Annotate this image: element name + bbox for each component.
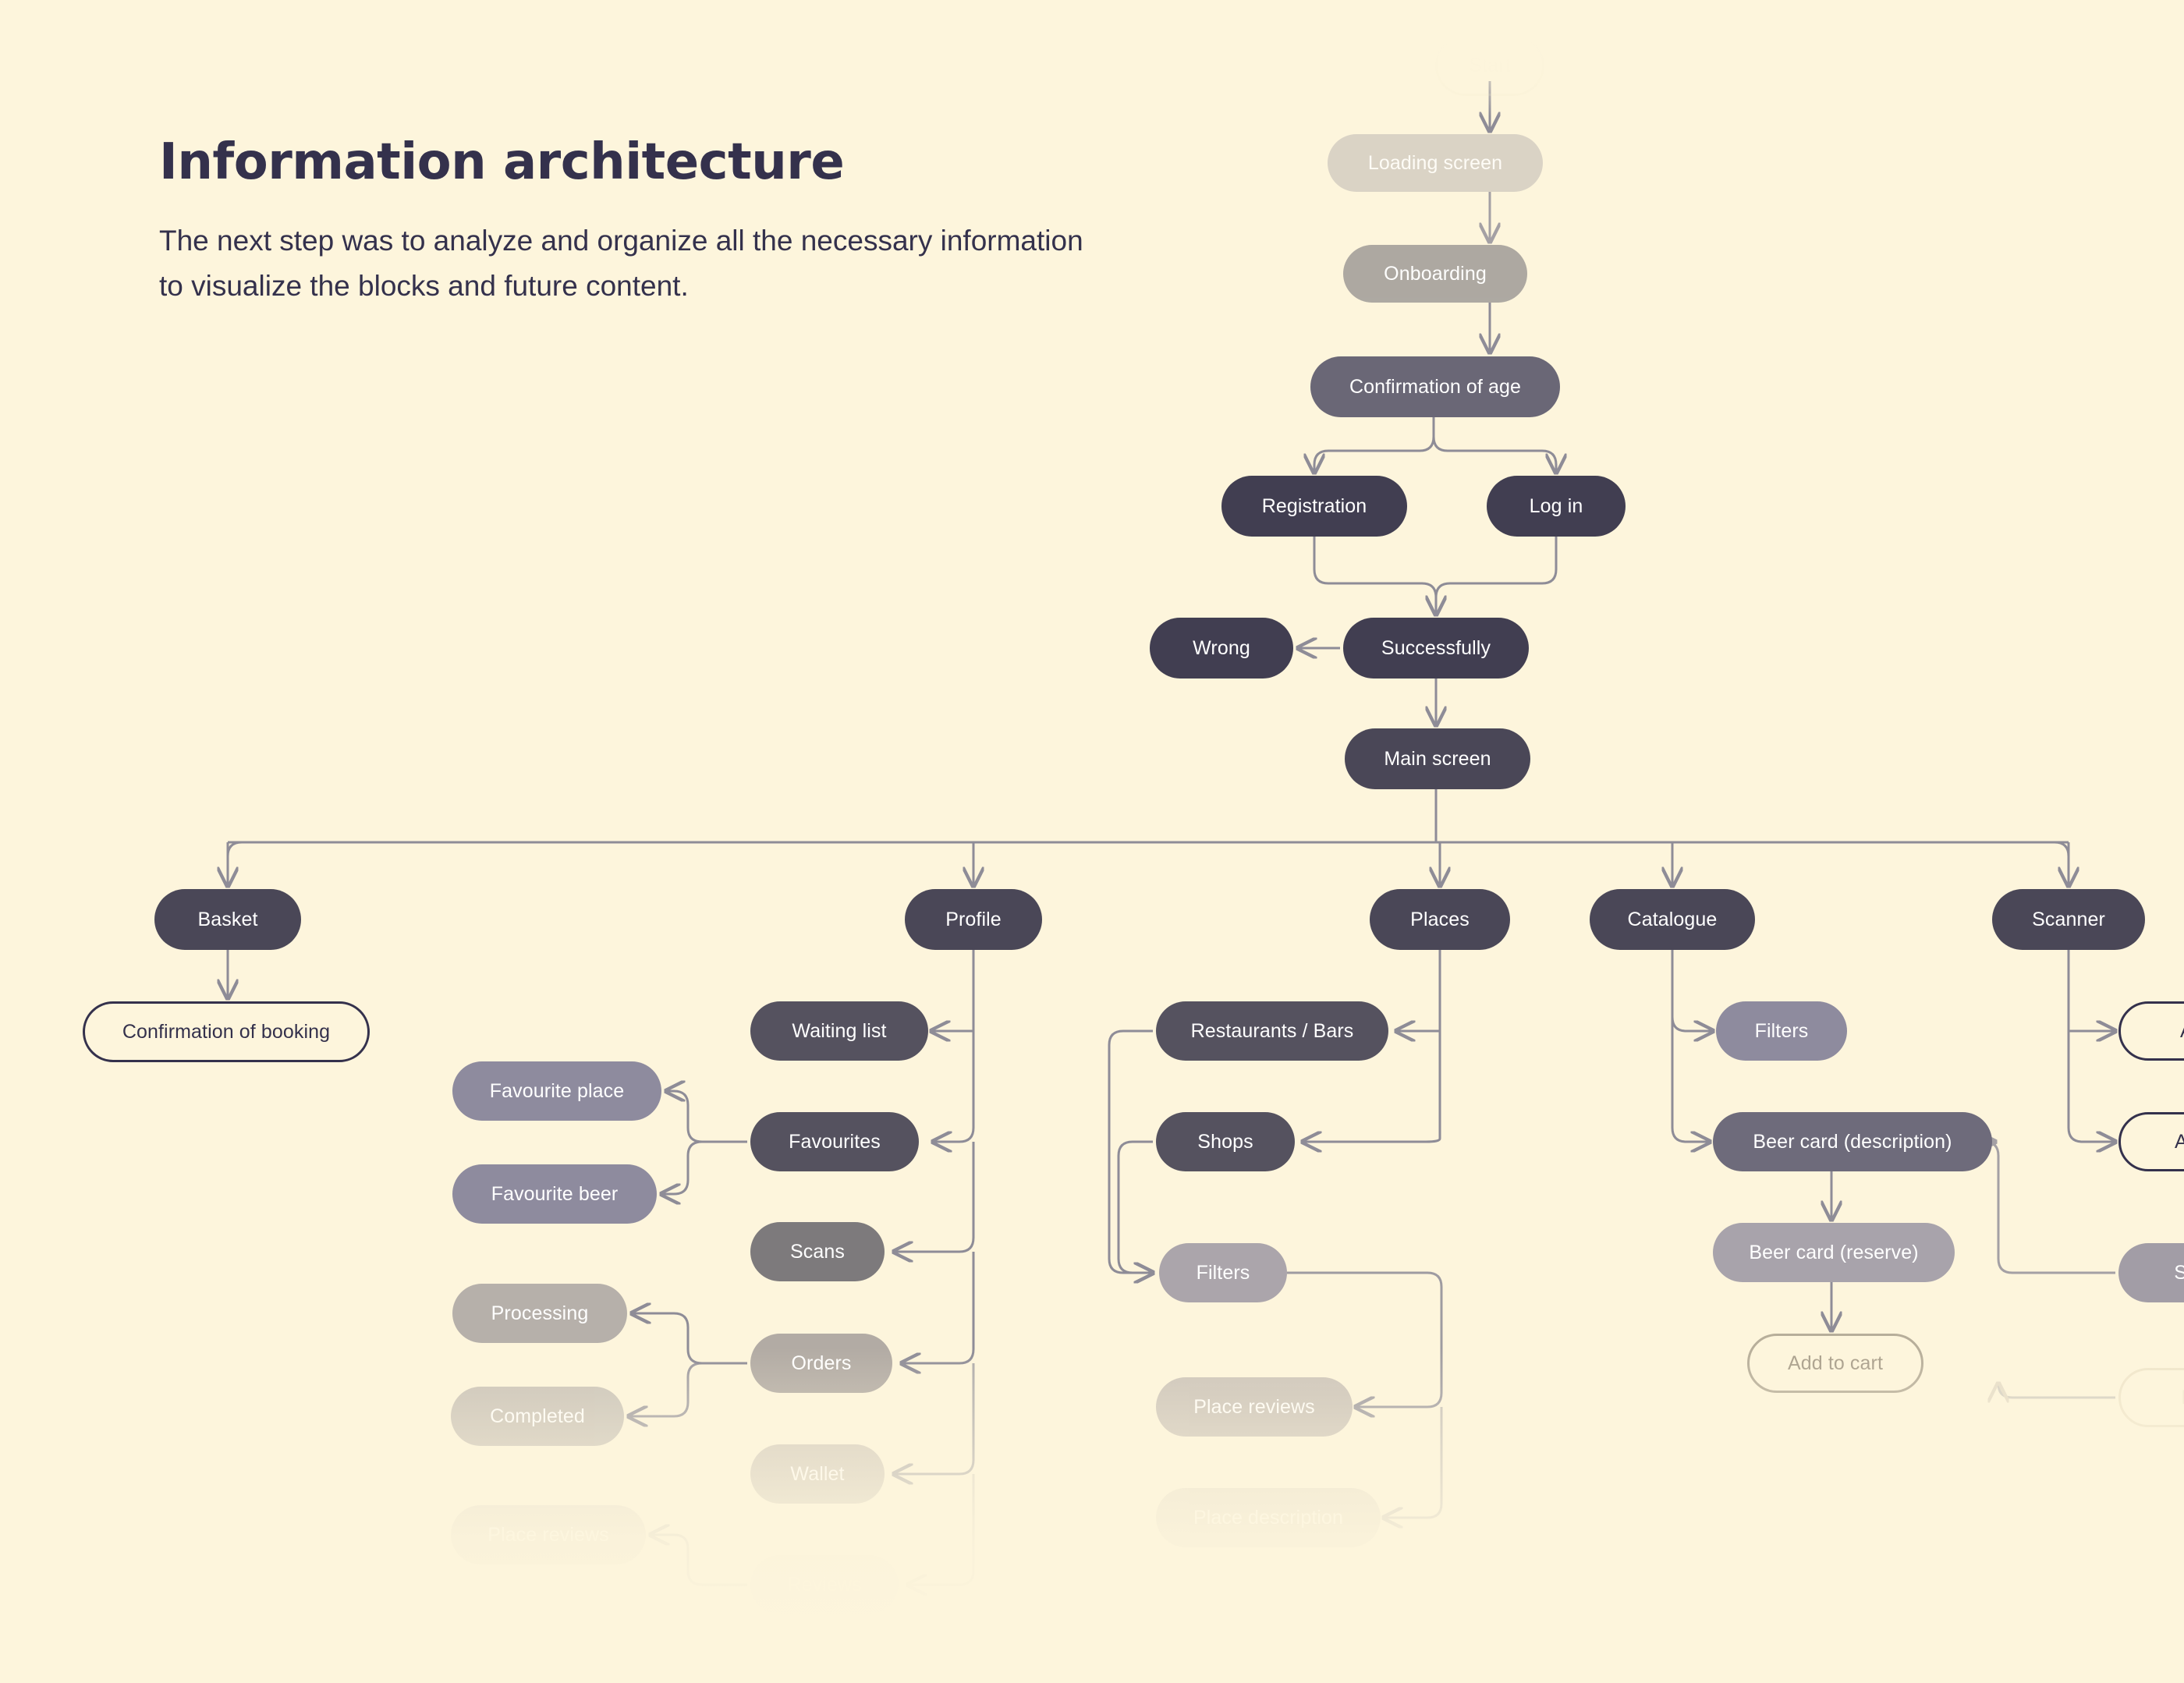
flow-node-label: Log in bbox=[1530, 497, 1583, 516]
flow-node-scanner[interactable]: Scanner bbox=[1992, 889, 2145, 950]
flow-node-label: Successfully bbox=[1381, 639, 1491, 658]
flow-node-filters-catalogue[interactable]: Filters bbox=[1716, 1001, 1847, 1061]
flow-node-label: Onboarding bbox=[1384, 264, 1487, 284]
flow-node-label: Place description bbox=[1193, 1508, 1343, 1528]
flow-node-label: Main screen bbox=[1384, 749, 1491, 769]
flow-node-successfully[interactable]: Successfully bbox=[1343, 618, 1529, 679]
flow-node-label: Filters bbox=[1755, 1022, 1809, 1041]
flow-node-label: Acce bbox=[2175, 1132, 2184, 1152]
page-subtitle: The next step was to analyze and organiz… bbox=[159, 218, 1095, 308]
intro-block: Information architecture The next step w… bbox=[159, 136, 1134, 308]
flow-node-place-reviews-places[interactable]: Place reviews bbox=[1156, 1377, 1353, 1437]
flow-node-restaurants-bars[interactable]: Restaurants / Bars bbox=[1156, 1001, 1388, 1061]
flow-node-label: Favourites bbox=[789, 1132, 881, 1152]
flow-node-wallet[interactable]: Wallet bbox=[750, 1444, 885, 1504]
flow-node-label: Waiting list bbox=[792, 1022, 886, 1041]
flow-node-profile[interactable]: Profile bbox=[905, 889, 1042, 950]
flow-node-label: Reviews bbox=[787, 1575, 861, 1595]
flow-node-scanner-scan[interactable]: Scan bbox=[2118, 1243, 2184, 1302]
flow-node-label: Add to cart bbox=[1788, 1354, 1883, 1373]
flow-node-label: Completed bbox=[490, 1407, 585, 1426]
flow-node-places[interactable]: Places bbox=[1370, 889, 1510, 950]
flow-node-add-to-cart[interactable]: Add to cart bbox=[1747, 1334, 1923, 1393]
flow-node-label: Favourite place bbox=[490, 1082, 624, 1101]
flow-node-label: Scan bbox=[2174, 1263, 2184, 1283]
flow-node-favourite-place[interactable]: Favourite place bbox=[452, 1061, 661, 1121]
flow-node-beer-card-description[interactable]: Beer card (description) bbox=[1713, 1112, 1992, 1171]
flow-node-favourites[interactable]: Favourites bbox=[750, 1112, 919, 1171]
flow-node-confirmation-of-age[interactable]: Confirmation of age bbox=[1310, 356, 1560, 417]
flow-node-processing[interactable]: Processing bbox=[452, 1284, 627, 1343]
flow-node-label: Favourite beer bbox=[491, 1185, 619, 1204]
flow-node-label: Scanner bbox=[2032, 910, 2105, 930]
flow-node-label: Catalogue bbox=[1628, 910, 1718, 930]
flow-node-label: Not bbox=[2181, 1388, 2184, 1408]
flow-node-registration[interactable]: Registration bbox=[1221, 476, 1407, 537]
flow-node-basket[interactable]: Basket bbox=[154, 889, 301, 950]
flow-node-favourite-beer[interactable]: Favourite beer bbox=[452, 1164, 657, 1224]
flow-node-start[interactable]: Start bbox=[1435, 35, 1544, 96]
flow-node-scanner-acc-1[interactable]: Acc bbox=[2118, 1001, 2184, 1061]
flow-node-label: Scans bbox=[790, 1242, 845, 1262]
flow-node-label: Basket bbox=[197, 910, 257, 930]
flow-node-label: Profile bbox=[945, 910, 1002, 930]
page-title: Information architecture bbox=[159, 136, 1134, 189]
flow-node-onboarding[interactable]: Onboarding bbox=[1343, 245, 1527, 303]
flow-node-label: Wallet bbox=[790, 1465, 844, 1484]
flow-node-log-in[interactable]: Log in bbox=[1487, 476, 1626, 537]
flow-node-label: Wrong bbox=[1193, 639, 1250, 658]
flow-node-place-description[interactable]: Place description bbox=[1156, 1488, 1381, 1547]
flow-node-label: Beer card (description) bbox=[1753, 1132, 1952, 1152]
flow-node-label: Registration bbox=[1262, 497, 1367, 516]
flow-node-scanner-not[interactable]: Not bbox=[2118, 1368, 2184, 1427]
flow-node-scanner-acc-2[interactable]: Acce bbox=[2118, 1112, 2184, 1171]
flow-node-wrong[interactable]: Wrong bbox=[1150, 618, 1293, 679]
flow-node-beer-card-reserve[interactable]: Beer card (reserve) bbox=[1713, 1223, 1955, 1282]
flow-node-confirmation-of-booking[interactable]: Confirmation of booking bbox=[83, 1001, 370, 1062]
flow-node-label: Start bbox=[1469, 56, 1510, 76]
flow-node-label: Shops bbox=[1197, 1132, 1253, 1152]
flow-node-label: Processing bbox=[491, 1304, 589, 1323]
flow-node-label: Confirmation of booking bbox=[122, 1022, 330, 1042]
flow-node-shops[interactable]: Shops bbox=[1156, 1112, 1295, 1171]
flow-node-label: Confirmation of age bbox=[1349, 377, 1521, 397]
flow-node-orders[interactable]: Orders bbox=[750, 1334, 892, 1393]
flow-node-label: Restaurants / Bars bbox=[1191, 1022, 1354, 1041]
flow-node-completed[interactable]: Completed bbox=[451, 1387, 624, 1446]
flow-node-label: Filters bbox=[1197, 1263, 1250, 1283]
flow-node-label: Acc bbox=[2180, 1022, 2184, 1041]
flow-node-label: Loading screen bbox=[1368, 154, 1502, 173]
flow-node-label: Place reviews bbox=[1193, 1398, 1315, 1417]
flow-node-label: Beer card (reserve) bbox=[1749, 1243, 1918, 1263]
flow-node-label: Place reviews bbox=[487, 1525, 609, 1545]
flow-node-label: Orders bbox=[791, 1354, 851, 1373]
flow-node-main-screen[interactable]: Main screen bbox=[1345, 728, 1530, 789]
flow-node-catalogue[interactable]: Catalogue bbox=[1590, 889, 1755, 950]
flow-node-loading-screen[interactable]: Loading screen bbox=[1328, 134, 1543, 192]
flow-node-place-reviews-profile[interactable]: Place reviews bbox=[451, 1505, 646, 1564]
flow-node-waiting-list[interactable]: Waiting list bbox=[750, 1001, 928, 1061]
flow-node-reviews[interactable]: Reviews bbox=[750, 1555, 899, 1614]
flow-node-label: Places bbox=[1410, 910, 1470, 930]
flow-node-scans[interactable]: Scans bbox=[750, 1222, 885, 1281]
flow-node-filters-places[interactable]: Filters bbox=[1159, 1243, 1287, 1302]
